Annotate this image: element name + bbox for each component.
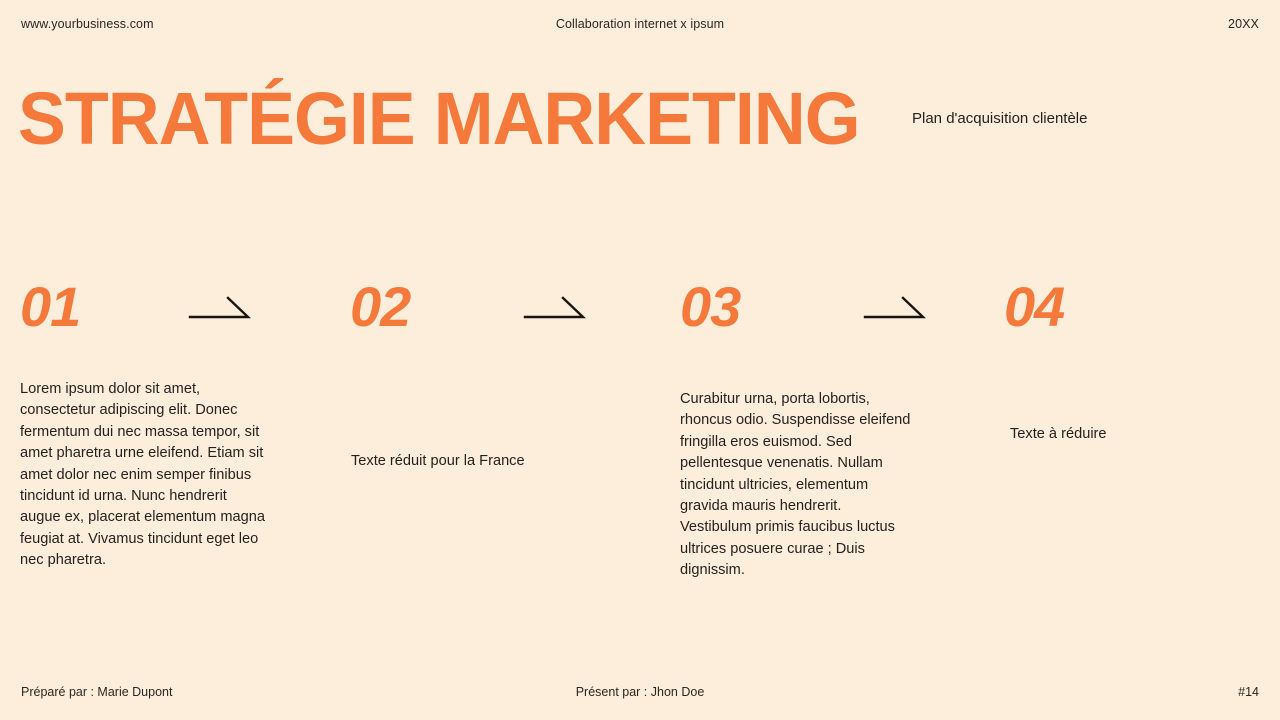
header-year-label: 20XX [1228, 16, 1259, 32]
step-body-04: Texte à réduire [1010, 424, 1240, 445]
step-body-02: Texte réduit pour la France [351, 451, 601, 472]
page-title: STRATÉGIE MARKETING [18, 78, 860, 160]
arrow-right-icon-01 [170, 290, 252, 322]
step-number-02: 02 [350, 276, 410, 338]
step-02: 02 [350, 276, 650, 346]
slide-header: www.yourbusiness.com Collaboration inter… [0, 0, 1280, 48]
arrow-right-icon-03 [845, 290, 927, 322]
step-03: 03 [680, 276, 980, 346]
slide-footer: Préparé par : Marie Dupont Présent par :… [0, 674, 1280, 720]
footer-presented-by: Présent par : Jhon Doe [0, 684, 1280, 700]
step-number-03: 03 [680, 276, 740, 338]
step-01: 01 [20, 276, 320, 346]
header-center-label: Collaboration internet x ipsum [0, 16, 1280, 32]
steps-row: 01 02 03 04 [0, 276, 1280, 346]
footer-page-number: #14 [1238, 684, 1259, 700]
step-04: 04 [1004, 276, 1274, 346]
step-number-01: 01 [20, 276, 80, 338]
step-number-04: 04 [1004, 276, 1064, 338]
page-subtitle: Plan d'acquisition clientèle [912, 108, 1087, 129]
arrow-right-icon-02 [505, 290, 587, 322]
slide-root: www.yourbusiness.com Collaboration inter… [0, 0, 1280, 720]
step-body-03: Curabitur urna, porta lobortis, rhoncus … [680, 389, 915, 582]
step-body-01: Lorem ipsum dolor sit amet, consectetur … [20, 379, 270, 572]
